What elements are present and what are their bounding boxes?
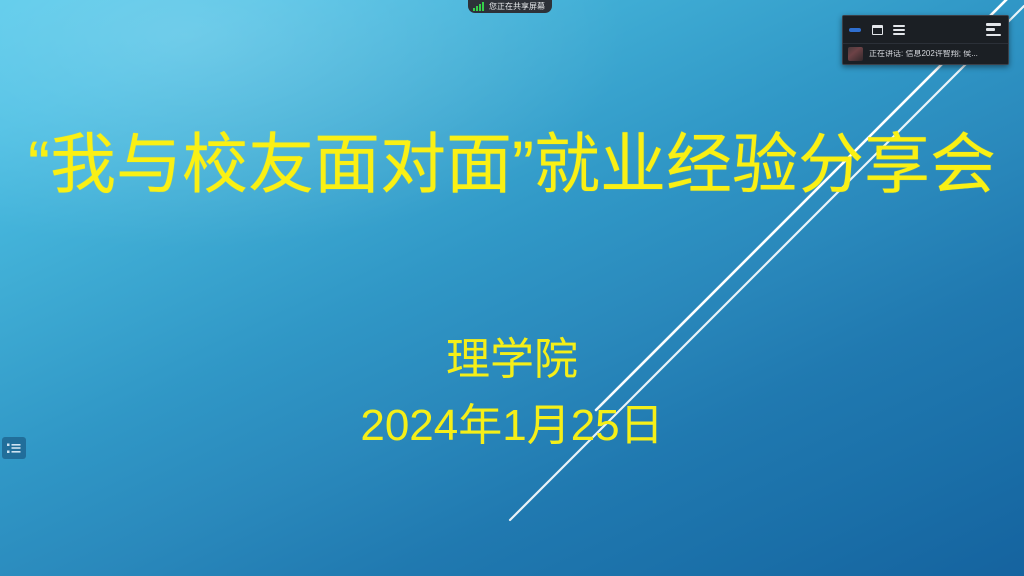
participants-list-button[interactable] <box>892 23 906 37</box>
slide-menu-button[interactable] <box>2 437 26 459</box>
active-speaker-label: 正在讲话: 信息202许智翔; 侯... <box>869 50 978 58</box>
collapse-panel-icon <box>986 23 1001 26</box>
slide-background <box>0 0 1024 576</box>
minimize-button[interactable] <box>848 23 862 37</box>
zoom-panel-window-controls <box>848 23 906 37</box>
list-lines-icon <box>893 25 905 35</box>
screen: “我与校友面对面”就业经验分享会 理学院 2024年1月25日 您正在共享屏幕 <box>0 0 1024 576</box>
participant-avatar <box>848 47 863 61</box>
maximize-icon <box>872 25 883 35</box>
bullet-list-icon <box>7 443 21 454</box>
signal-bars-icon <box>473 3 484 11</box>
zoom-active-speaker-row[interactable]: 正在讲话: 信息202许智翔; 侯... <box>843 43 1008 64</box>
minimize-icon <box>849 28 861 32</box>
collapse-panel-button[interactable] <box>986 23 1003 36</box>
slide-subtitle-organization: 理学院 <box>0 338 1024 382</box>
maximize-button[interactable] <box>870 23 884 37</box>
zoom-floating-panel[interactable]: 正在讲话: 信息202许智翔; 侯... <box>842 15 1009 65</box>
slide-title: “我与校友面对面”就业经验分享会 <box>0 131 1024 197</box>
screen-share-indicator[interactable]: 您正在共享屏幕 <box>468 0 552 13</box>
slide-subtitle-date: 2024年1月25日 <box>0 404 1024 448</box>
screen-share-label: 您正在共享屏幕 <box>489 3 545 11</box>
zoom-panel-titlebar[interactable] <box>843 16 1008 43</box>
